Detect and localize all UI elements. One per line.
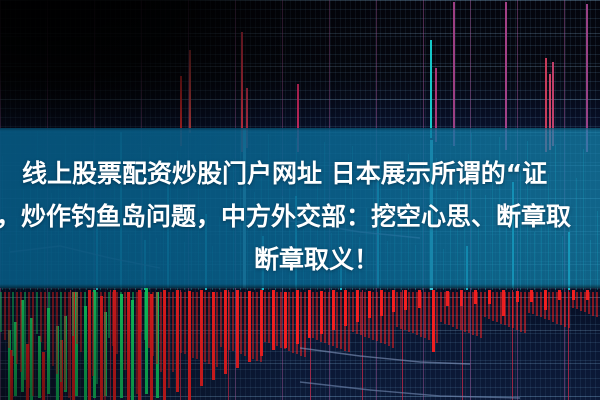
headline-line-1: 线上股票配资炒股门户网址 日本展示所谓的“证 [22,161,600,187]
headline-line-3: 断章取义！ [254,247,600,273]
headline-line-2: ，炒作钓鱼岛问题，中方外交部：挖空心思、断章取 [0,204,596,230]
news-banner-image: 线上股票配资炒股门户网址 日本展示所谓的“证 ，炒作钓鱼岛问题，中方外交部：挖空… [0,0,600,400]
headline-band-top-shadow [0,128,600,131]
headline-band-bottom-shadow [0,284,600,288]
